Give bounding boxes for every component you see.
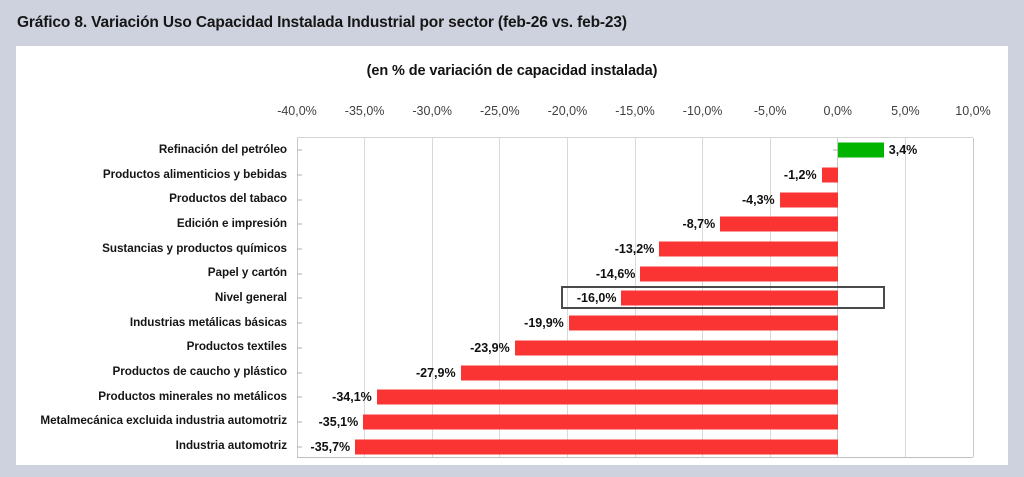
bar[interactable]	[780, 192, 838, 207]
plot-area: 3,4%-1,2%-4,3%-8,7%-13,2%-14,6%-16,0%-19…	[297, 137, 973, 458]
x-tick-label: 5,0%	[891, 104, 920, 118]
x-tick-label: 10,0%	[955, 104, 990, 118]
title-bar: Gráfico 8. Variación Uso Capacidad Insta…	[0, 0, 1024, 46]
bar[interactable]	[363, 414, 838, 429]
bar[interactable]	[822, 168, 838, 183]
bar[interactable]	[659, 242, 837, 257]
bar[interactable]	[640, 266, 837, 281]
bar-value-label: -19,9%	[524, 316, 564, 330]
x-tick-label: -35,0%	[345, 104, 385, 118]
bar-value-label: -27,9%	[416, 366, 456, 380]
x-axis-tick-labels: -40,0%-35,0%-30,0%-25,0%-20,0%-15,0%-10,…	[16, 104, 1008, 124]
x-tick-label: -40,0%	[277, 104, 317, 118]
bar-value-label: -4,3%	[742, 193, 775, 207]
bar-value-label: -8,7%	[683, 217, 716, 231]
category-label: Sustancias y productos químicos	[102, 236, 287, 261]
category-label: Productos alimenticios y bebidas	[103, 162, 287, 187]
bar[interactable]	[377, 390, 838, 405]
x-tick-label: 0,0%	[824, 104, 853, 118]
row-tick-mark	[297, 249, 302, 250]
chart-subtitle: (en % de variación de capacidad instalad…	[16, 63, 1008, 79]
bar-value-label: -34,1%	[332, 390, 372, 404]
bar-value-label: -14,6%	[596, 267, 636, 281]
row-tick-mark	[297, 298, 302, 299]
bar-row: -4,3%	[297, 187, 973, 212]
category-label: Refinación del petróleo	[159, 137, 287, 162]
category-label: Edición e impresión	[177, 211, 287, 236]
row-tick-mark	[297, 224, 302, 225]
category-label: Productos textiles	[187, 335, 287, 360]
category-label: Productos de caucho y plástico	[112, 359, 287, 384]
x-tick-label: -30,0%	[412, 104, 452, 118]
bar[interactable]	[569, 316, 838, 331]
x-tick-label: -25,0%	[480, 104, 520, 118]
category-label: Industrias metálicas básicas	[130, 310, 287, 335]
row-tick-mark	[297, 397, 302, 398]
category-label: Papel y cartón	[208, 260, 287, 285]
bar[interactable]	[515, 340, 838, 355]
category-label: Metalmecánica excluida industria automot…	[40, 409, 287, 434]
bar-value-label: -13,2%	[615, 242, 655, 256]
category-label: Productos del tabaco	[169, 186, 287, 211]
x-tick-label: -15,0%	[615, 104, 655, 118]
bar-value-label: -1,2%	[784, 168, 817, 182]
page-title: Gráfico 8. Variación Uso Capacidad Insta…	[17, 14, 627, 32]
bar-row: -19,9%	[297, 311, 973, 336]
bar-row: -34,1%	[297, 385, 973, 410]
bar-value-label: -35,1%	[319, 415, 359, 429]
y-axis-category-labels: Refinación del petróleoProductos aliment…	[16, 137, 297, 458]
bar[interactable]	[355, 439, 838, 454]
bar[interactable]	[461, 365, 838, 380]
chart-screenshot: Gráfico 8. Variación Uso Capacidad Insta…	[0, 0, 1024, 477]
bar-row: -27,9%	[297, 360, 973, 385]
category-label: Productos minerales no metálicos	[98, 384, 287, 409]
chart-panel: (en % de variación de capacidad instalad…	[16, 46, 1008, 465]
row-tick-mark	[297, 273, 302, 274]
bar-row: -16,0%	[297, 286, 973, 311]
bar-value-label: -23,9%	[470, 341, 510, 355]
bar[interactable]	[720, 217, 838, 232]
bar-row: 3,4%	[297, 138, 973, 163]
bar-row: -35,1%	[297, 410, 973, 435]
bar-row: -1,2%	[297, 163, 973, 188]
bar-value-label: -16,0%	[577, 291, 617, 305]
row-tick-mark	[297, 421, 302, 422]
row-tick-mark	[297, 323, 302, 324]
row-tick-mark	[297, 175, 302, 176]
row-tick-mark	[297, 372, 302, 373]
x-tick-label: -20,0%	[548, 104, 588, 118]
bar-row: -8,7%	[297, 212, 973, 237]
category-label: Industria automotriz	[176, 433, 287, 458]
row-tick-mark	[297, 347, 302, 348]
bar-value-label: -35,7%	[311, 440, 351, 454]
row-tick-mark	[297, 446, 302, 447]
row-tick-mark	[297, 150, 302, 151]
x-tick-label: -10,0%	[683, 104, 723, 118]
x-tick-label: -5,0%	[754, 104, 787, 118]
bar-row: -14,6%	[297, 261, 973, 286]
row-tick-mark	[297, 199, 302, 200]
bar-row: -23,9%	[297, 336, 973, 361]
bar[interactable]	[838, 143, 884, 158]
bar-value-label: 3,4%	[889, 143, 918, 157]
category-label: Nivel general	[215, 285, 287, 310]
bar-row: -35,7%	[297, 434, 973, 459]
bar-row: -13,2%	[297, 237, 973, 262]
bar[interactable]	[621, 291, 837, 306]
